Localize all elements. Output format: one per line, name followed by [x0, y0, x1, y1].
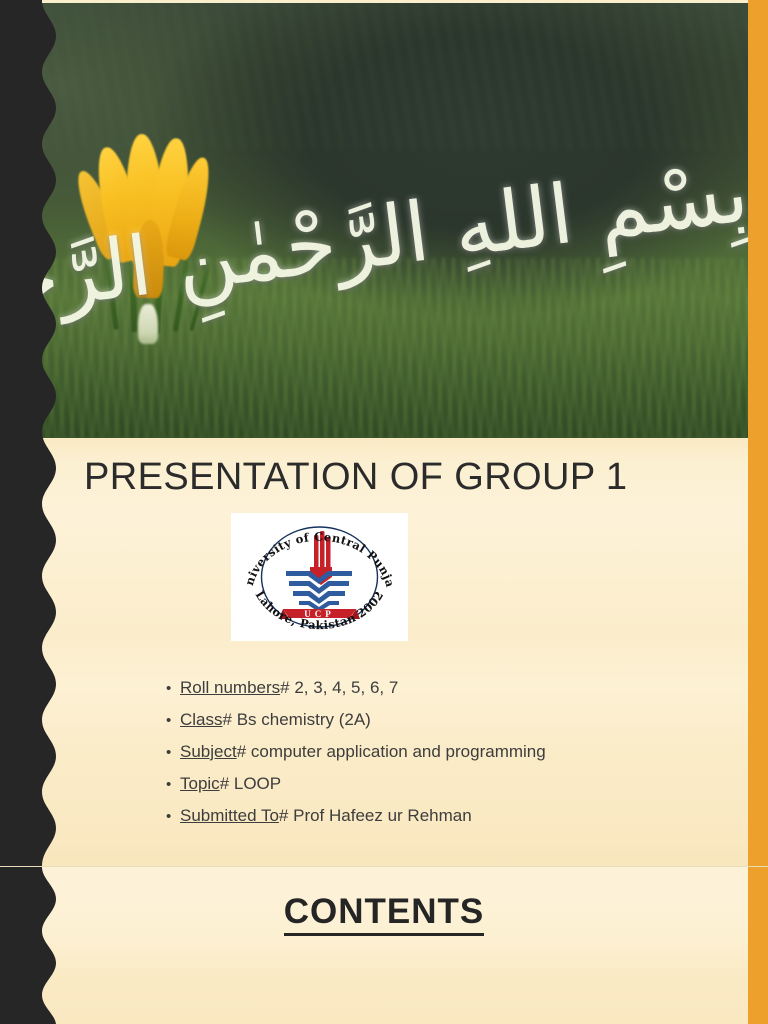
hero-photo-bismillah: بِسْمِ اللهِ الرَّحْمٰنِ الرَّحِيْمِ	[0, 0, 768, 438]
bullet-dot-icon: •	[166, 737, 180, 768]
bullet-dot-icon: •	[166, 673, 180, 704]
contents-heading-text: CONTENTS	[284, 892, 485, 936]
slide-2: CONTENTS	[0, 866, 768, 1024]
list-item: • Submitted To # Prof Hafeez ur Rehman	[166, 800, 726, 832]
list-item-value: # computer application and programming	[237, 736, 546, 767]
previous-slide-dark-edge	[0, 0, 42, 3]
left-wave-decoration	[0, 867, 72, 1024]
right-accent-bar	[748, 867, 768, 1024]
list-item-key: Submitted To	[180, 800, 279, 831]
bullet-dot-icon: •	[166, 769, 180, 800]
list-item-value: # 2, 3, 4, 5, 6, 7	[280, 672, 398, 703]
previous-slide-edge	[0, 0, 768, 3]
list-item-value: # Bs chemistry (2A)	[223, 704, 371, 735]
list-item-key: Roll numbers	[180, 672, 280, 703]
list-item: • Roll numbers # 2, 3, 4, 5, 6, 7	[166, 672, 726, 704]
list-item-key: Subject	[180, 736, 237, 767]
list-item-value: # LOOP	[220, 768, 281, 799]
bullet-dot-icon: •	[166, 801, 180, 832]
list-item: • Class # Bs chemistry (2A)	[166, 704, 726, 736]
list-item: • Subject # computer application and pro…	[166, 736, 726, 768]
left-wave-decoration	[0, 0, 72, 866]
list-item: • Topic # LOOP	[166, 768, 726, 800]
list-item-key: Topic	[180, 768, 220, 799]
slide-1: بِسْمِ اللهِ الرَّحْمٰنِ الرَّحِيْمِ PRE…	[0, 0, 768, 866]
slide-document: بِسْمِ اللهِ الرَّحْمٰنِ الرَّحِيْمِ PRE…	[0, 0, 768, 1024]
contents-heading: CONTENTS	[0, 892, 768, 932]
ucp-university-logo: UCP University of Central Punjab Lahore,…	[231, 513, 408, 641]
previous-slide-orange-edge	[748, 0, 768, 3]
list-item-key: Class	[180, 704, 223, 735]
list-item-value: # Prof Hafeez ur Rehman	[279, 800, 472, 831]
right-accent-bar	[748, 0, 768, 866]
bullet-dot-icon: •	[166, 705, 180, 736]
page-title: PRESENTATION OF GROUP 1	[84, 456, 724, 499]
detail-bullet-list: • Roll numbers # 2, 3, 4, 5, 6, 7 • Clas…	[166, 672, 726, 832]
